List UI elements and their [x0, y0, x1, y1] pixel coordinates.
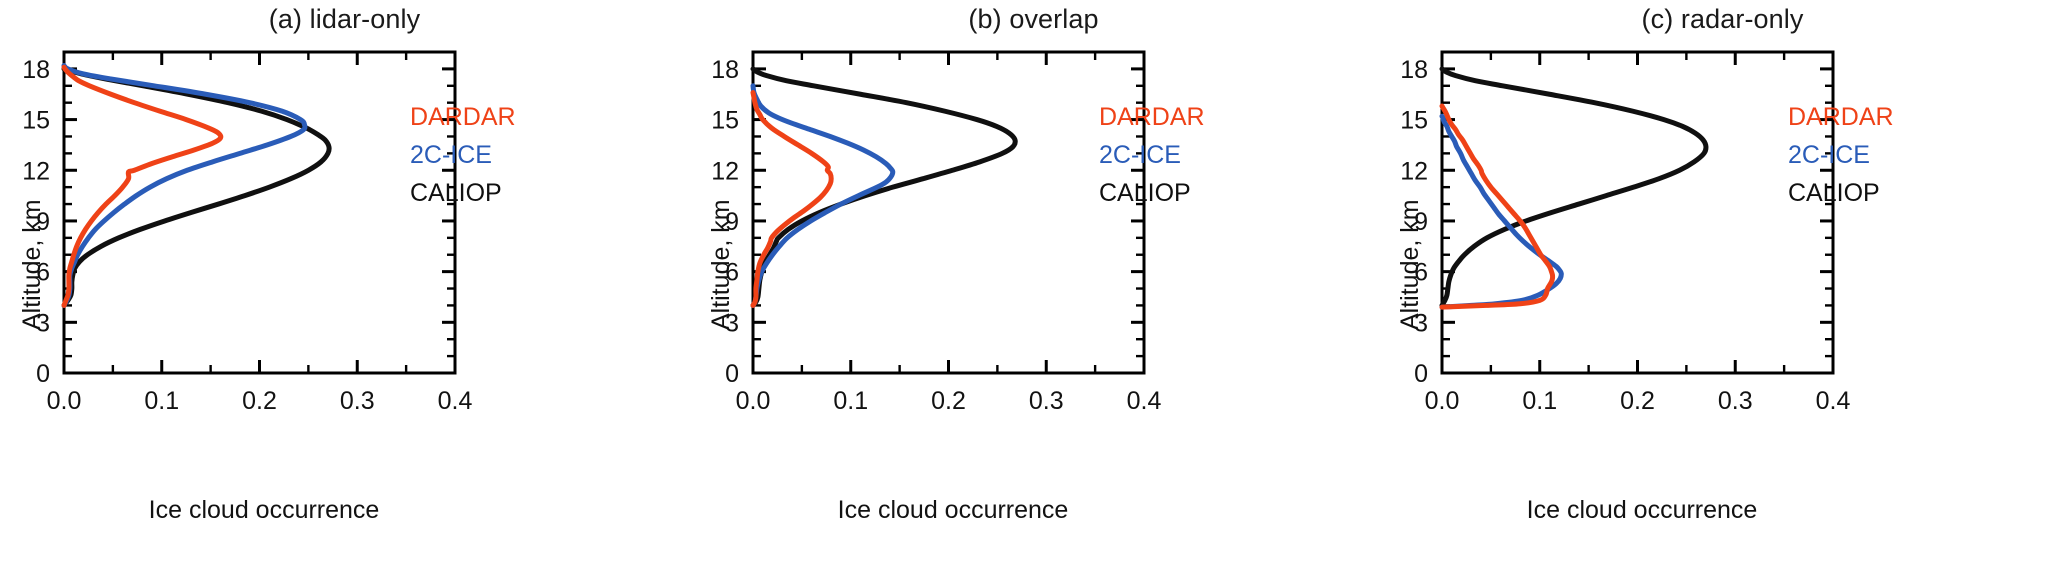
legend-entry-caliop: CALIOP	[1099, 174, 1205, 212]
y-tick-label: 12	[1400, 157, 1428, 185]
y-tick-label: 12	[22, 157, 50, 185]
panel-c-legend: DARDAR 2C-ICE CALIOP	[1788, 98, 1894, 212]
x-tick-label: 0.1	[1522, 387, 1557, 415]
y-tick-label: 15	[711, 107, 739, 135]
y-tick-label: 18	[1400, 56, 1428, 84]
y-tick-label: 0	[1414, 360, 1428, 388]
legend-entry-caliop: CALIOP	[1788, 174, 1894, 212]
panel-a: (a) lidar-only 0.00.10.20.30.40369121518…	[0, 0, 689, 568]
panel-c-xlabel: Ice cloud occurrence	[1442, 496, 1842, 525]
figure-root: (a) lidar-only 0.00.10.20.30.40369121518…	[0, 0, 2067, 568]
series-line-caliop	[753, 69, 1015, 306]
y-tick-label: 12	[711, 157, 739, 185]
x-tick-label: 0.3	[1718, 387, 1753, 415]
y-tick-label: 15	[22, 107, 50, 135]
x-tick-label: 0.4	[1816, 387, 1851, 415]
x-tick-label: 0.1	[144, 387, 179, 415]
x-tick-label: 0.1	[833, 387, 868, 415]
panel-c-ylabel: Altitude, km	[1396, 199, 1425, 330]
panel-a-ylabel: Altitude, km	[18, 199, 47, 330]
panel-b: (b) overlap 0.00.10.20.30.40369121518 DA…	[689, 0, 1378, 568]
panel-a-legend: DARDAR 2C-ICE CALIOP	[410, 98, 516, 212]
x-tick-label: 0.4	[438, 387, 473, 415]
x-tick-label: 0.2	[242, 387, 277, 415]
y-tick-label: 0	[36, 360, 50, 388]
x-tick-label: 0.3	[340, 387, 375, 415]
series-line-2c-ice	[1442, 116, 1561, 307]
panel-b-axes: 0.00.10.20.30.40369121518	[711, 52, 1161, 415]
panel-b-plot: 0.00.10.20.30.40369121518	[689, 0, 1378, 568]
panel-b-ylabel: Altitude, km	[707, 199, 736, 330]
panel-a-plot: 0.00.10.20.30.40369121518	[0, 0, 689, 568]
series-line-dardar	[64, 67, 221, 305]
x-tick-label: 0.0	[736, 387, 771, 415]
panel-a-axes: 0.00.10.20.30.40369121518	[22, 52, 472, 415]
panel-b-legend: DARDAR 2C-ICE CALIOP	[1099, 98, 1205, 212]
x-tick-label: 0.2	[931, 387, 966, 415]
y-tick-label: 0	[725, 360, 739, 388]
y-tick-label: 18	[711, 56, 739, 84]
panel-c-plot: 0.00.10.20.30.40369121518	[1378, 0, 2067, 568]
legend-entry-2c-ice: 2C-ICE	[410, 136, 516, 174]
x-tick-label: 0.4	[1127, 387, 1162, 415]
series-line-caliop	[64, 69, 329, 306]
y-tick-label: 15	[1400, 107, 1428, 135]
x-tick-label: 0.0	[47, 387, 82, 415]
legend-entry-dardar: DARDAR	[1099, 98, 1205, 136]
x-tick-label: 0.2	[1620, 387, 1655, 415]
panel-a-xlabel: Ice cloud occurrence	[64, 496, 464, 525]
panel-b-xlabel: Ice cloud occurrence	[753, 496, 1153, 525]
panel-c: (c) radar-only 0.00.10.20.30.40369121518…	[1378, 0, 2067, 568]
x-tick-label: 0.0	[1425, 387, 1460, 415]
x-tick-label: 0.3	[1029, 387, 1064, 415]
legend-entry-dardar: DARDAR	[1788, 98, 1894, 136]
legend-entry-2c-ice: 2C-ICE	[1099, 136, 1205, 174]
legend-entry-dardar: DARDAR	[410, 98, 516, 136]
series-line-dardar	[1442, 106, 1553, 307]
y-tick-label: 18	[22, 56, 50, 84]
legend-entry-2c-ice: 2C-ICE	[1788, 136, 1894, 174]
panel-c-axes: 0.00.10.20.30.40369121518	[1400, 52, 1850, 415]
legend-entry-caliop: CALIOP	[410, 174, 516, 212]
